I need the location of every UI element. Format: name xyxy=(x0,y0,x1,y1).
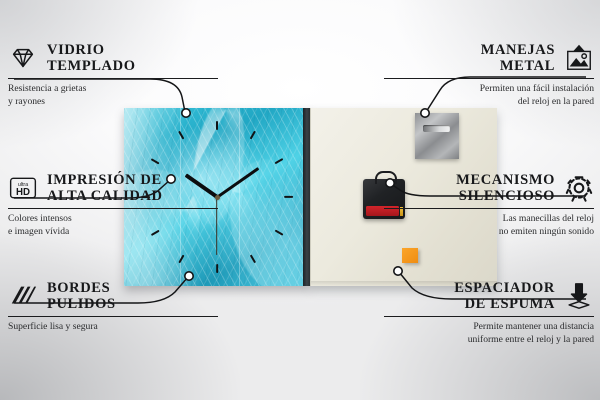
metal-hanger-plate xyxy=(415,113,459,159)
feature-header: BORDES PULIDOS xyxy=(8,280,218,312)
feature-title: MECANISMO SILENCIOSO xyxy=(456,172,555,204)
clock-tick xyxy=(284,196,293,198)
picture-hanger-icon xyxy=(564,43,594,73)
feature-header: MECANISMO SILENCIOSO xyxy=(384,172,594,204)
feature-divider xyxy=(384,316,594,317)
feature-title: MANEJAS METAL xyxy=(481,42,555,74)
polished-edges-icon xyxy=(8,281,38,311)
feature-description: Permite mantener una distancia uniforme … xyxy=(384,321,594,346)
foam-spacer-icon xyxy=(564,281,594,311)
feature-header: MANEJAS METAL xyxy=(384,42,594,74)
clock-tick xyxy=(216,121,218,130)
infographic-canvas: VIDRIO TEMPLADO Resistencia a grietas y … xyxy=(0,0,600,400)
feature-divider xyxy=(8,78,218,79)
feature-title: ESPACIADOR DE ESPUMA xyxy=(454,280,555,312)
hanger-slot xyxy=(423,125,450,132)
feature-header: ESPACIADOR DE ESPUMA xyxy=(384,280,594,312)
feature-vidrio-templado: VIDRIO TEMPLADO Resistencia a grietas y … xyxy=(8,42,218,109)
feature-impresion-alta-calidad: ultra HD IMPRESIÓN DE ALTA CALIDAD Color… xyxy=(8,172,218,239)
feature-divider xyxy=(384,208,594,209)
feature-description: Superficie lisa y segura xyxy=(8,321,218,334)
feature-header: VIDRIO TEMPLADO xyxy=(8,42,218,74)
feature-divider xyxy=(8,316,218,317)
glass-seam xyxy=(239,108,240,286)
feature-title: BORDES PULIDOS xyxy=(47,280,116,312)
feature-title: VIDRIO TEMPLADO xyxy=(47,42,136,74)
clock-tick xyxy=(216,264,218,273)
feature-divider xyxy=(8,208,218,209)
feature-mecanismo-silencioso: MECANISMO SILENCIOSO Las manecillas del … xyxy=(384,172,594,239)
feature-manejas-metal: MANEJAS METAL Permiten una fácil instala… xyxy=(384,42,594,109)
glass-edge xyxy=(303,108,310,286)
gear-icon xyxy=(564,173,594,203)
ultra-hd-icon: ultra HD xyxy=(8,173,38,203)
feature-espaciador-espuma: ESPACIADOR DE ESPUMA Permite mantener un… xyxy=(384,280,594,347)
feature-description: Resistencia a grietas y rayones xyxy=(8,83,218,108)
diamond-icon xyxy=(8,43,38,73)
feature-description: Permiten una fácil instalación del reloj… xyxy=(384,83,594,108)
svg-text:HD: HD xyxy=(16,187,30,198)
feature-divider xyxy=(384,78,594,79)
feature-bordes-pulidos: BORDES PULIDOS Superficie lisa y segura xyxy=(8,280,218,334)
foam-spacer-pad xyxy=(402,248,418,263)
feature-description: Las manecillas del reloj no emiten ningú… xyxy=(384,213,594,238)
feature-title: IMPRESIÓN DE ALTA CALIDAD xyxy=(47,172,163,204)
feature-header: ultra HD IMPRESIÓN DE ALTA CALIDAD xyxy=(8,172,218,204)
feature-description: Colores intensos e imagen vívida xyxy=(8,213,218,238)
